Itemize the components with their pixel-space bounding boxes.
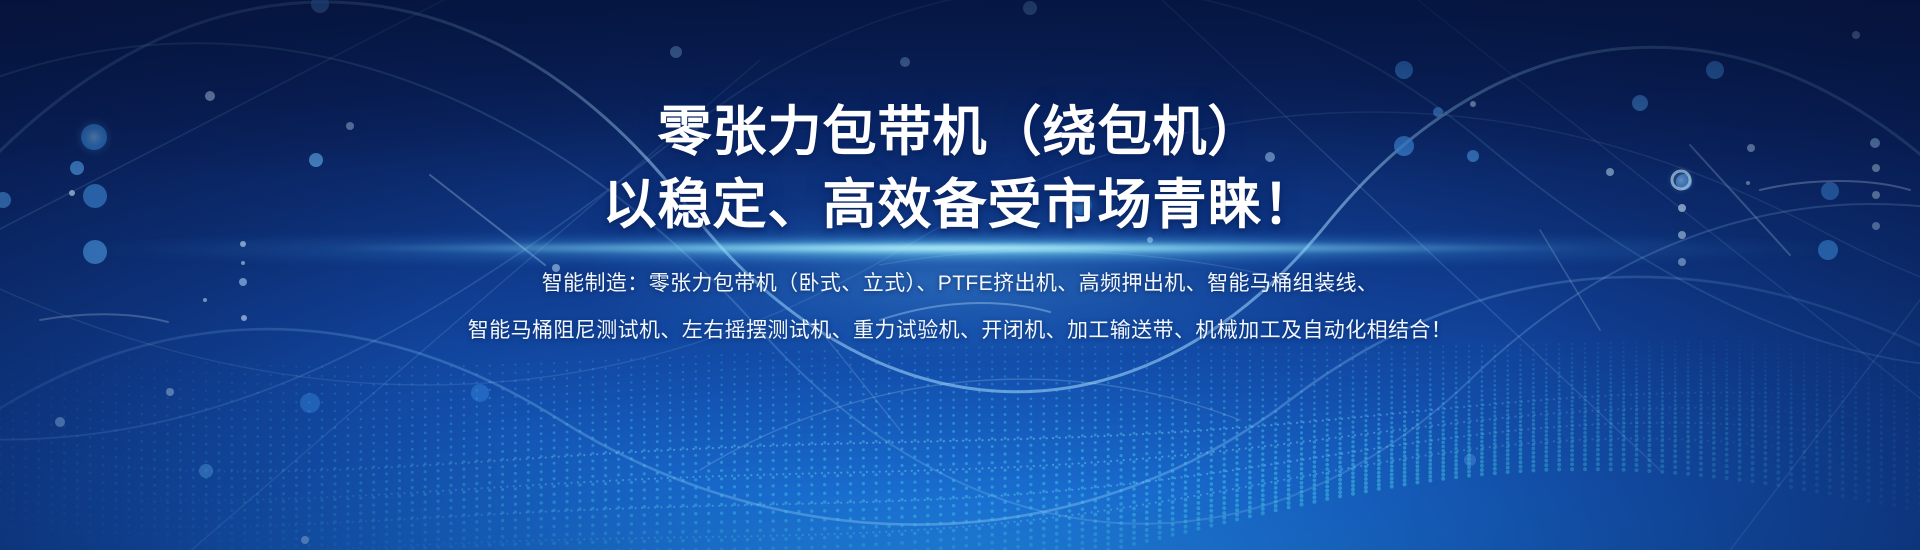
banner-subtitle-line1: 智能制造：零张力包带机（卧式、立式）、PTFE挤出机、高频押出机、智能马桶组装线… — [542, 270, 1379, 298]
banner-content: 零张力包带机（绕包机） 以稳定、高效备受市场青睐！ 智能制造：零张力包带机（卧式… — [0, 0, 1920, 550]
promo-banner: 零张力包带机（绕包机） 以稳定、高效备受市场青睐！ 智能制造：零张力包带机（卧式… — [0, 0, 1920, 550]
banner-headline-line2: 以稳定、高效备受市场青睐！ — [603, 171, 1318, 240]
banner-headline-line1: 零张力包带机（绕包机） — [658, 98, 1263, 167]
banner-subtitle-line2: 智能马桶阻尼测试机、左右摇摆测试机、重力试验机、开闭机、加工输送带、机械加工及自… — [468, 317, 1452, 345]
